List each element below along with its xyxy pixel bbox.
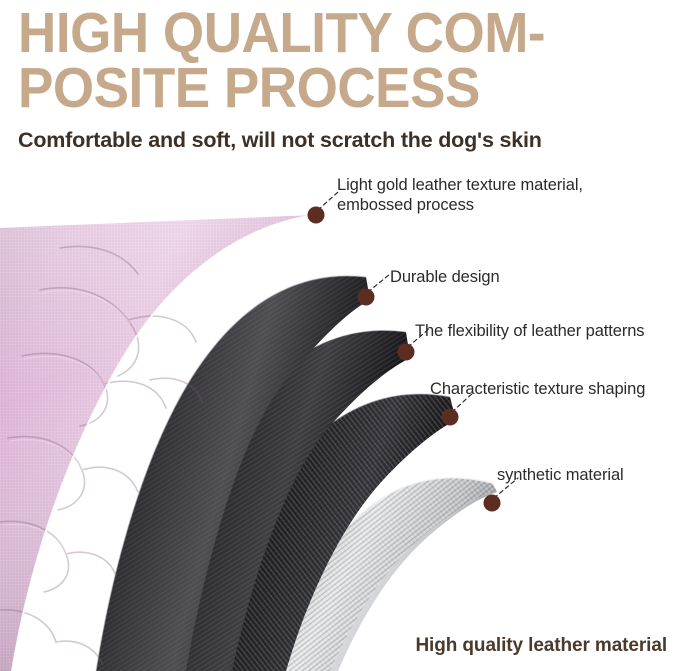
- callout-label-durable-design: Durable design: [390, 268, 500, 288]
- callout-label-flexibility-leather-patterns: The flexibility of leather patterns: [415, 322, 644, 342]
- leader-line-2: [368, 274, 390, 292]
- callout-label-light-gold-leather: Light gold leather texture material, emb…: [337, 176, 583, 215]
- callout-dot-5: [484, 495, 501, 512]
- page-title: HIGH QUALITY COM- POSITE PROCESS: [18, 6, 613, 116]
- callout-label-synthetic-material: synthetic material: [497, 466, 624, 486]
- callout-dot-1: [308, 207, 325, 224]
- page-subtitle: Comfortable and soft, will not scratch t…: [18, 128, 542, 153]
- infographic-root: HIGH QUALITY COM- POSITE PROCESS Comfort…: [0, 0, 679, 671]
- callout-dot-4: [442, 409, 459, 426]
- material-layers-illustration: [0, 170, 679, 671]
- leader-line-1: [318, 192, 338, 210]
- footer-note: High quality leather material: [415, 635, 667, 657]
- callout-dot-3: [398, 344, 415, 361]
- callout-label-characteristic-texture-shaping: Characteristic texture shaping: [430, 380, 645, 400]
- callout-dot-2: [358, 289, 375, 306]
